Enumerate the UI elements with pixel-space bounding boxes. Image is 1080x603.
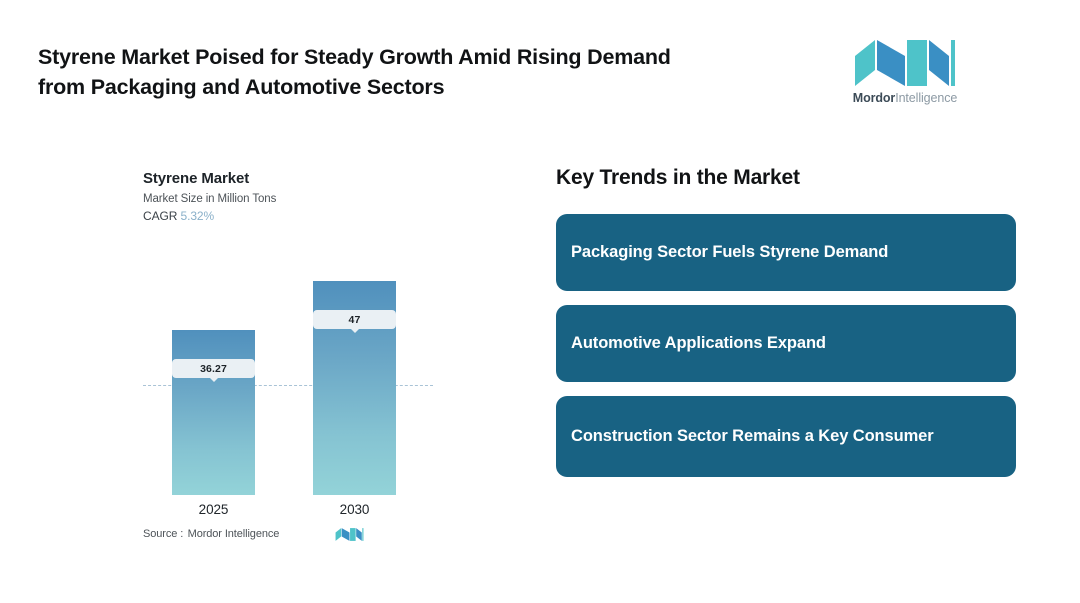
chart-cagr: CAGR 5.32% bbox=[143, 209, 443, 223]
source-logo-mark-icon bbox=[335, 527, 364, 542]
cagr-value: 5.32% bbox=[181, 209, 215, 223]
chart-source: Source : Mordor Intelligence bbox=[143, 525, 433, 543]
source-label: Source : bbox=[143, 528, 183, 540]
x-axis-label-2030: 2030 bbox=[313, 502, 396, 517]
trend-card-label: Packaging Sector Fuels Styrene Demand bbox=[571, 240, 888, 265]
page-title-line-2: from Packaging and Automotive Sectors bbox=[38, 72, 798, 102]
trend-card-construction[interactable]: Construction Sector Remains a Key Consum… bbox=[556, 396, 1016, 477]
trend-card-packaging[interactable]: Packaging Sector Fuels Styrene Demand bbox=[556, 214, 1016, 291]
brand-logo-mark-icon bbox=[853, 38, 957, 88]
x-axis-label-2025: 2025 bbox=[172, 502, 255, 517]
cagr-label: CAGR bbox=[143, 209, 177, 223]
page-title: Styrene Market Poised for Steady Growth … bbox=[38, 42, 798, 102]
key-trends-panel: Key Trends in the Market Packaging Secto… bbox=[556, 166, 1016, 477]
chart-plot-area: 36.27 47 2025 2030 bbox=[143, 230, 433, 495]
chart-title: Styrene Market bbox=[143, 170, 443, 187]
bar-2025[interactable] bbox=[172, 330, 255, 495]
source-name: Mordor Intelligence bbox=[188, 528, 280, 540]
mordor-intelligence-logo: MordorIntelligence bbox=[845, 38, 965, 105]
brand-wordmark: MordorIntelligence bbox=[845, 91, 965, 105]
trend-card-label: Automotive Applications Expand bbox=[571, 331, 826, 356]
bar-value-label-2030: 47 bbox=[313, 310, 396, 329]
trend-card-automotive[interactable]: Automotive Applications Expand bbox=[556, 305, 1016, 382]
chart-subtitle: Market Size in Million Tons bbox=[143, 193, 443, 205]
trend-card-label: Construction Sector Remains a Key Consum… bbox=[571, 424, 934, 449]
trends-heading: Key Trends in the Market bbox=[556, 166, 1016, 190]
bar-value-label-2025: 36.27 bbox=[172, 359, 255, 378]
brand-name-bold: Mordor bbox=[853, 91, 895, 105]
page-title-line-1: Styrene Market Poised for Steady Growth … bbox=[38, 42, 798, 72]
styrene-market-chart: Styrene Market Market Size in Million To… bbox=[143, 170, 443, 550]
brand-name-light: Intelligence bbox=[895, 91, 957, 105]
